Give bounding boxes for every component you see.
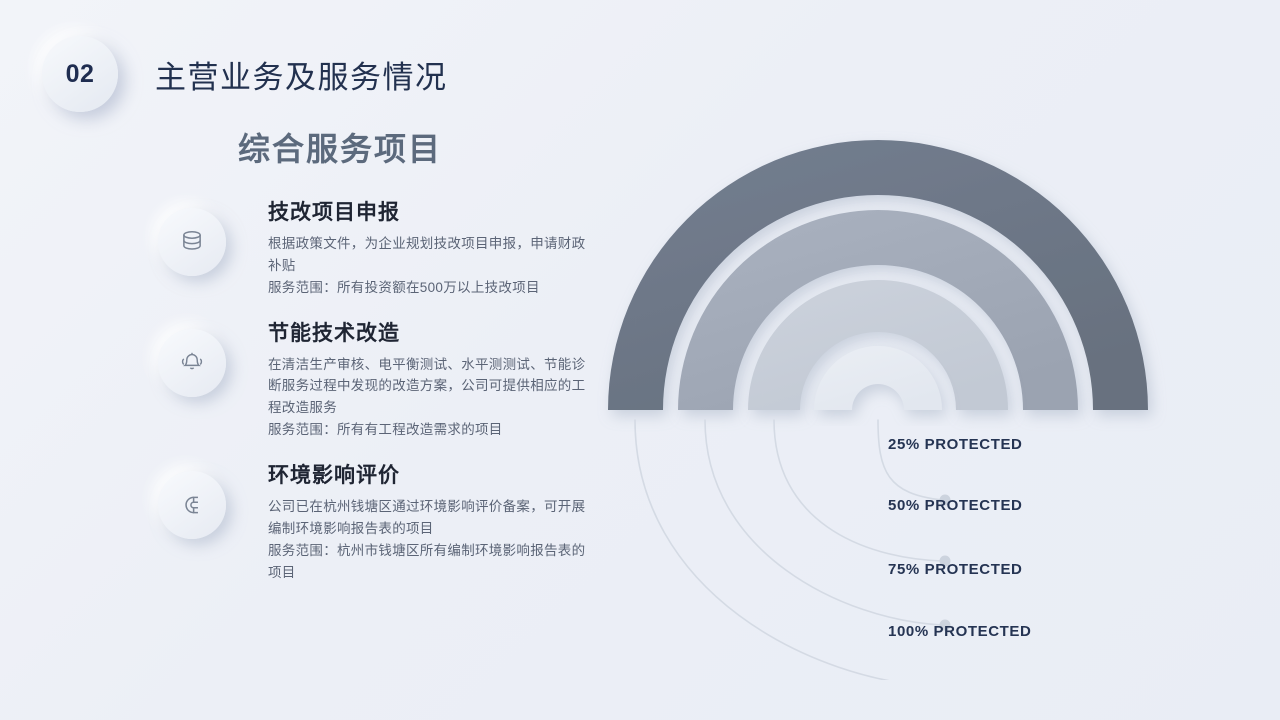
list-item-body: 节能技术改造 在清洁生产审核、电平衡测试、水平测测试、节能诊断服务过程中发现的改… bbox=[268, 317, 598, 441]
page-title: 主营业务及服务情况 bbox=[155, 52, 448, 97]
leader-line-25 bbox=[878, 420, 942, 500]
list-item-title: 节能技术改造 bbox=[268, 317, 598, 347]
gauge-band-50 bbox=[748, 280, 1008, 410]
list-item-desc: 在清洁生产审核、电平衡测试、水平测测试、节能诊断服务过程中发现的改造方案，公司可… bbox=[268, 354, 588, 420]
legend-item-75: 75% PROTECTED bbox=[888, 561, 1023, 578]
list-item: 技改项目申报 根据政策文件，为企业规划技改项目申报，申请财政补贴 服务范围：所有… bbox=[158, 196, 598, 299]
list-item-desc: 根据政策文件，为企业规划技改项目申报，申请财政补贴 bbox=[268, 233, 588, 277]
magnet-icon bbox=[158, 471, 226, 539]
list-item-title: 技改项目申报 bbox=[268, 196, 598, 226]
list-item-scope: 服务范围：杭州市钱塘区所有编制环境影响报告表的项目 bbox=[268, 540, 598, 584]
slide-canvas: 02 主营业务及服务情况 综合服务项目 技改项目申报 根据政策文件，为企业规划技… bbox=[0, 0, 1280, 720]
legend-item-50: 50% PROTECTED bbox=[888, 497, 1023, 514]
legend-item-100: 100% PROTECTED bbox=[888, 623, 1031, 640]
section-number-badge: 02 bbox=[42, 36, 118, 112]
leader-dots bbox=[940, 495, 951, 681]
section-subtitle: 综合服务项目 bbox=[238, 124, 442, 170]
concentric-gauge-chart bbox=[560, 120, 1260, 680]
list-item-body: 技改项目申报 根据政策文件，为企业规划技改项目申报，申请财政补贴 服务范围：所有… bbox=[268, 196, 598, 299]
gauge-band-25 bbox=[814, 346, 942, 410]
list-item: 环境影响评价 公司已在杭州钱塘区通过环境影响评价备案，可开展编制环境影响报告表的… bbox=[158, 459, 598, 583]
database-icon bbox=[158, 208, 226, 276]
legend-item-25: 25% PROTECTED bbox=[888, 436, 1023, 453]
section-number: 02 bbox=[66, 60, 95, 89]
list-item-scope: 服务范围：所有有工程改造需求的项目 bbox=[268, 419, 598, 441]
list-item-body: 环境影响评价 公司已在杭州钱塘区通过环境影响评价备案，可开展编制环境影响报告表的… bbox=[268, 459, 598, 583]
leader-line-100 bbox=[635, 420, 942, 680]
list-item-scope: 服务范围：所有投资额在500万以上技改项目 bbox=[268, 277, 598, 299]
list-item-desc: 公司已在杭州钱塘区通过环境影响评价备案，可开展编制环境影响报告表的项目 bbox=[268, 496, 588, 540]
list-item: 节能技术改造 在清洁生产审核、电平衡测试、水平测测试、节能诊断服务过程中发现的改… bbox=[158, 317, 598, 441]
bell-icon bbox=[158, 329, 226, 397]
service-list: 技改项目申报 根据政策文件，为企业规划技改项目申报，申请财政补贴 服务范围：所有… bbox=[158, 196, 598, 601]
list-item-title: 环境影响评价 bbox=[268, 459, 598, 489]
